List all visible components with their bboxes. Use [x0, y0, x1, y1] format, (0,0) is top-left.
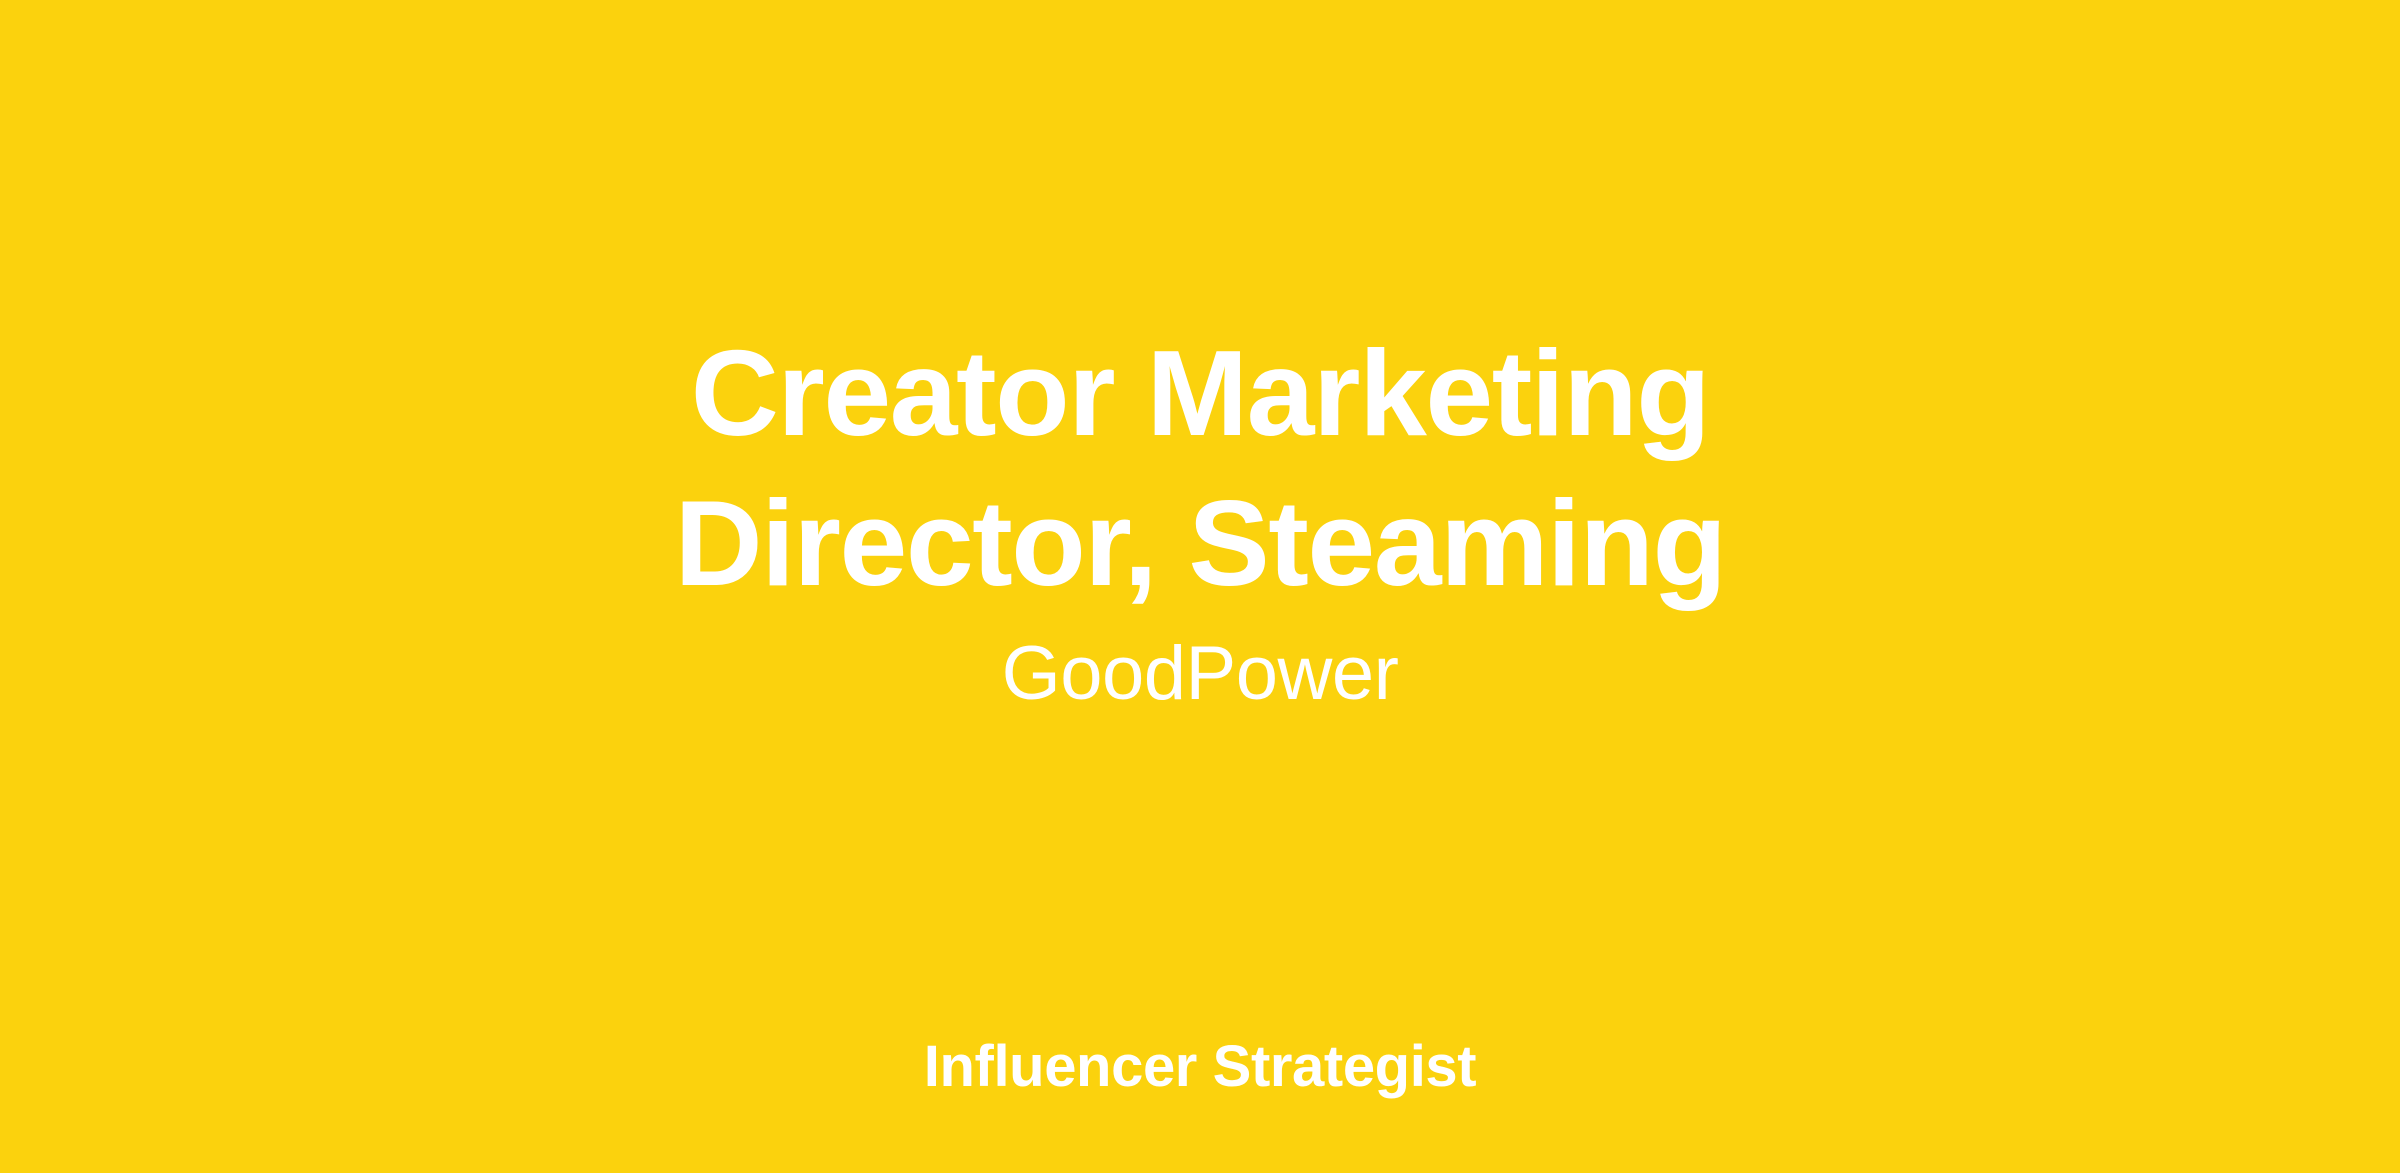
role-footer-label: Influencer Strategist — [200, 1033, 2200, 1101]
heading-block: Creator Marketing Director, Steaming Goo… — [450, 318, 1950, 720]
page-title: Creator Marketing Director, Steaming — [450, 318, 1950, 618]
organization-subtitle: GoodPower — [450, 618, 1950, 720]
title-slide: Creator Marketing Director, Steaming Goo… — [0, 0, 2400, 1173]
